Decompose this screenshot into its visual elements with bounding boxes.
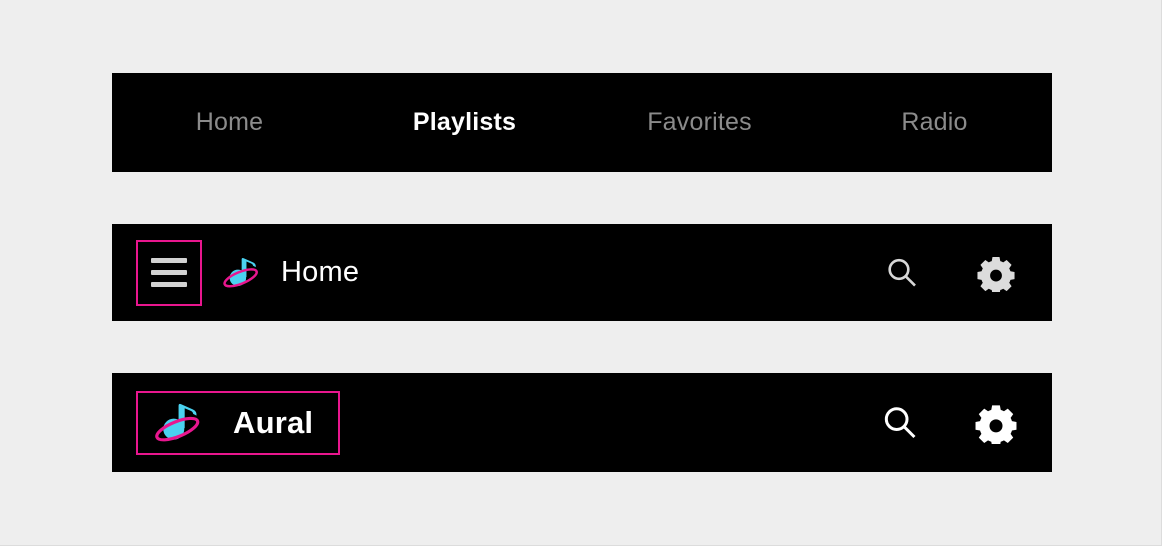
brand-bar: Aural [112, 373, 1052, 472]
search-icon[interactable] [879, 250, 925, 296]
search-icon[interactable] [875, 398, 925, 448]
app-canvas: Home Playlists Favorites Radio Home [0, 0, 1162, 546]
nav-item-favorites[interactable]: Favorites [582, 110, 817, 135]
hamburger-menu-icon[interactable] [136, 240, 202, 306]
nav-item-radio[interactable]: Radio [817, 110, 1052, 135]
brand-name-label: Aural [233, 407, 313, 438]
aural-music-note-logo [220, 251, 264, 295]
nav-item-playlists[interactable]: Playlists [347, 110, 582, 135]
brand-logo-button[interactable]: Aural [136, 391, 340, 455]
menu-bar-top [151, 258, 187, 263]
nav-item-home[interactable]: Home [112, 110, 347, 135]
app-bar-title: Home [281, 258, 359, 287]
top-navigation-bar: Home Playlists Favorites Radio [112, 73, 1052, 172]
app-bar: Home [112, 224, 1052, 321]
gear-icon[interactable] [971, 398, 1021, 448]
menu-bar-middle [151, 270, 187, 275]
gear-icon[interactable] [973, 250, 1019, 296]
aural-music-note-logo [151, 395, 207, 451]
menu-bar-bottom [151, 282, 187, 287]
